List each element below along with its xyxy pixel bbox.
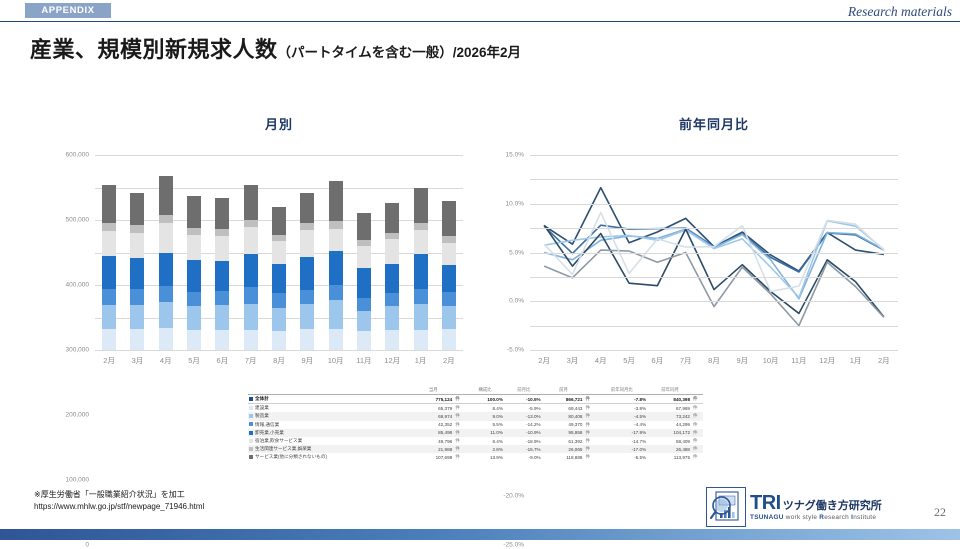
bar-segment [329,221,343,229]
table-cell-prev-month-unit: 件 [584,453,595,461]
col-prev-year-unit [692,386,703,395]
table-cell-prev-year-unit: 件 [692,404,703,413]
bar-segment [130,289,144,305]
bar-segment [102,223,116,231]
bar-x-tick-label: 10月 [328,355,344,366]
bar-segment [385,293,399,306]
logo-en-esearch: esearch [824,514,851,521]
table-cell-current-unit: 件 [454,404,465,413]
table-cell-label: 建設業 [248,404,412,413]
table-cell-label: 製造業 [248,412,412,420]
bar-y-tick-label: 100,000 [66,477,90,484]
bar-segment [215,229,229,236]
table-header-row: 当月 構成比 前月比 前月 前年同月比 前年同月 [248,386,703,395]
bar-segment [130,193,144,226]
table-cell-label: 宿泊業,飲食サービス業 [248,437,412,445]
table-cell-composition: 8.4% [465,404,505,413]
bar-segment [159,302,173,327]
bar-y-tick-label: 300,000 [66,347,90,354]
table-cell-current: 775,124 [412,395,454,404]
bar-x-tick-label: 8月 [273,355,285,366]
bar-segment [272,308,286,331]
page-title-sub: （パートタイムを含む一般）/2026年2月 [278,45,522,60]
table-cell-label: 全体計 [248,395,412,404]
bar-x-tick-label: 11月 [356,355,371,366]
bar-segment [300,193,314,223]
table-cell-current: 21,988 [412,445,454,453]
bar-segment [414,289,428,305]
bar-column [187,196,201,350]
line-x-tick-label: 8月 [708,355,720,366]
table-cell-prev-year-unit: 件 [692,412,703,420]
line-x-tick-label: 7月 [680,355,692,366]
source-note-text: ※厚生労働省「一般職業紹介状況」を加工 [34,489,204,501]
line-y-tick-label: 15.0% [506,152,524,159]
table-cell-prev-month: 866,721 [543,395,585,404]
bar-segment [159,223,173,253]
line-x-tick-label: 1月 [850,355,862,366]
slide-root: APPENDIX Research materials 産業、規模別新規求人数（… [0,0,960,540]
col-label [248,386,412,395]
bar-segment [357,311,371,331]
bar-x-tick-label: 3月 [132,355,144,366]
table-row: 卸売業,小売業85,498件11.0%-10.9%95,958件-17.9%10… [248,429,703,437]
table-cell-prev-year: 104,172 [648,429,692,437]
bar-x-tick-label: 9月 [301,355,313,366]
bar-segment [102,231,116,256]
bar-segment [357,331,371,350]
series-color-swatch [249,406,253,410]
bar-x-tick-label: 1月 [415,355,427,366]
table-cell-prev-month-unit: 件 [584,429,595,437]
table-cell-composition: 13.9% [465,453,505,461]
page-title: 産業、規模別新規求人数（パートタイムを含む一般）/2026年2月 [30,32,521,64]
bar-column [215,198,229,350]
bar-y-tick-label: 200,000 [66,412,90,419]
table-row: 情報,通信業42,352件5.5%-14.2%49,370件-4.4%44,29… [248,421,703,429]
header-divider [0,21,960,22]
line-gridline: 15.0% [530,155,898,156]
bar-column [159,176,173,350]
bar-segment [130,225,144,233]
bar-segment [244,330,258,350]
line-x-tick-label: 2月 [538,355,550,366]
bar-segment [329,229,343,251]
table-cell-prev-month-unit: 件 [584,412,595,420]
col-composition: 構成比 [465,386,505,395]
bar-segment [442,243,456,264]
table-cell-label: 情報,通信業 [248,421,412,429]
logo-en-tsunagu: TSUNAGU [750,514,784,521]
series-color-swatch [249,397,253,401]
table-cell-yoy: -17.0% [595,445,648,453]
line-y-tick-label: 10.0% [506,200,524,207]
table-cell-yoy: -5.5% [595,453,648,461]
line-x-tick-label: 9月 [736,355,748,366]
series-color-swatch [249,455,253,459]
bar-column [357,213,371,350]
table-cell-current: 65,379 [412,404,454,413]
col-mom: 前月比 [505,386,543,395]
line-y-tick-label: -25.0% [503,542,524,549]
bar-x-tick-label: 4月 [160,355,172,366]
source-url[interactable]: https://www.mhlw.go.jp/stf/newpage_71946… [34,501,204,513]
bar-segment [442,236,456,243]
table-cell-composition: 9.0% [465,412,505,420]
line-y-tick-label: -5.0% [507,347,524,354]
bar-segment [414,254,428,288]
table-row: 建設業65,379件8.4%-5.9%69,443件-3.8%67,969件 [248,404,703,413]
line-y-tick-label: 5.0% [509,249,524,256]
table-cell-current-unit: 件 [454,421,465,429]
bar-gridline: 500,000 [95,188,463,189]
table-cell-current-unit: 件 [454,412,465,420]
bar-segment [159,253,173,286]
logo-jp-name: ツナグ働き方研究所 [783,501,882,512]
bar-gridline: 600,000 [95,155,463,156]
bar-segment [300,304,314,329]
table-cell-yoy: -14.7% [595,437,648,445]
bar-segment [244,220,258,227]
logo-en-name: TSUNAGU work style Research Institute [750,515,882,521]
footer-accent-bar [0,529,960,540]
bar-segment [329,329,343,350]
table-cell-prev-month: 49,370 [543,421,585,429]
bar-segment [300,329,314,350]
bar-segment [244,227,258,254]
table-cell-mom: -13.0% [505,412,543,420]
line-x-tick-label: 11月 [791,355,806,366]
table-cell-prev-year-unit: 件 [692,429,703,437]
table-cell-mom: -10.5% [505,395,543,404]
bar-segment [102,256,116,289]
page-title-main: 産業、規模別新規求人数 [30,37,278,62]
col-yoy: 前年同月比 [595,386,648,395]
bar-segment [357,246,371,268]
table-cell-prev-year: 840,398 [648,395,692,404]
bar-column [442,201,456,350]
bar-x-tick-label: 5月 [188,355,200,366]
table-cell-yoy: -4.4% [595,421,648,429]
bar-segment [187,292,201,306]
table-cell-current: 49,796 [412,437,454,445]
logo-primary-row: TRI ツナグ働き方研究所 [750,493,882,513]
table-cell-yoy: -7.8% [595,395,648,404]
bar-segment [414,223,428,230]
line-series [544,225,884,317]
bar-segment [244,185,258,220]
bar-column [244,185,258,350]
table-cell-current-unit: 件 [454,453,465,461]
bar-chart-title: 月別 [95,114,463,133]
bar-segment [385,264,399,293]
col-prev-month: 前月 [543,386,585,395]
table-cell-prev-month: 69,443 [543,404,585,413]
table-cell-current-unit: 件 [454,395,465,404]
bar-segment [414,230,428,254]
line-x-tick-label: 2月 [878,355,890,366]
line-x-tick-label: 10月 [763,355,779,366]
bar-segment [442,265,456,293]
bar-segment [187,306,201,330]
table-cell-prev-month: 80,408 [543,412,585,420]
table-row: 生活関連サービス業,娯楽業21,988件2.8%-15.7%26,065件-17… [248,445,703,453]
bar-segment [300,230,314,257]
bar-segment [272,293,286,308]
bar-segment [272,264,286,294]
table-cell-composition: 5.5% [465,421,505,429]
bar-segment [215,198,229,229]
table-cell-yoy: -4.5% [595,412,648,420]
table-cell-current: 85,498 [412,429,454,437]
table-row: 宿泊業,飲食サービス業49,796件6.4%-18.9%61,392件-14.7… [248,437,703,445]
table-cell-prev-year: 26,488 [648,445,692,453]
bar-segment [102,289,116,305]
line-gridline: 5.0% [530,204,898,205]
bar-segment [244,287,258,304]
line-series [544,188,884,271]
bar-segment [130,258,144,289]
bar-segment [357,268,371,298]
series-color-swatch [249,439,253,443]
bar-segment [102,305,116,329]
bar-segment [187,260,201,292]
series-color-swatch [249,431,253,435]
table-cell-prev-month-unit: 件 [584,437,595,445]
bar-y-tick-label: 500,000 [66,217,90,224]
bar-segment [130,305,144,329]
bar-segment [159,328,173,350]
source-note: ※厚生労働省「一般職業紹介状況」を加工 https://www.mhlw.go.… [34,489,204,512]
table-cell-label: 卸売業,小売業 [248,429,412,437]
table-row: 全体計775,124件100.0%-10.5%866,721件-7.8%840,… [248,395,703,404]
table-cell-yoy: -3.8% [595,404,648,413]
table-cell-mom: -5.9% [505,404,543,413]
bar-column [414,188,428,350]
bar-segment [385,203,399,233]
bar-x-tick-label: 12月 [384,355,400,366]
bar-segment [300,257,314,290]
table-cell-composition: 6.4% [465,437,505,445]
line-gridline: -15.0% [530,301,898,302]
bar-segment [329,285,343,300]
bar-segment [357,213,371,240]
table-row: サービス業(他に分類されないもの)107,698件13.9%-9.0%118,8… [248,453,703,461]
table-cell-current: 107,698 [412,453,454,461]
table-cell-current-unit: 件 [454,437,465,445]
bar-column [130,193,144,350]
bar-x-tick-label: 6月 [217,355,229,366]
bar-segment [385,330,399,350]
table-cell-prev-year: 67,969 [648,404,692,413]
table-cell-prev-year-unit: 件 [692,453,703,461]
table-cell-mom: -9.0% [505,453,543,461]
table-cell-composition: 100.0% [465,395,505,404]
bar-column [300,193,314,350]
table-head: 当月 構成比 前月比 前月 前年同月比 前年同月 [248,386,703,395]
tri-logo: TRI ツナグ働き方研究所 TSUNAGU work style Researc… [706,487,882,527]
table-cell-current: 69,974 [412,412,454,420]
bar-y-tick-label: 0 [85,542,89,549]
bar-gridline: 0 [95,350,463,351]
bar-segment [159,176,173,215]
bar-segment [357,298,371,311]
table-cell-prev-year: 58,409 [648,437,692,445]
bar-segment [300,223,314,230]
bar-segment [130,233,144,258]
bar-segment [215,236,229,261]
industry-data-table: 当月 構成比 前月比 前月 前年同月比 前年同月 全体計775,124件100.… [248,386,703,462]
appendix-badge: APPENDIX [25,3,111,18]
table-cell-prev-month: 61,392 [543,437,585,445]
bar-x-tick-label: 7月 [245,355,257,366]
bar-column [385,203,399,350]
bar-segment [442,306,456,329]
bar-y-tick-label: 600,000 [66,152,90,159]
table-cell-mom: -14.2% [505,421,543,429]
table-cell-yoy: -17.9% [595,429,648,437]
line-x-tick-label: 6月 [652,355,664,366]
logo-abbr: TRI [750,493,781,513]
line-gridline: -10.0% [530,277,898,278]
bar-segment [215,261,229,291]
table-cell-prev-month: 118,888 [543,453,585,461]
bar-segment [300,290,314,304]
table-cell-prev-year-unit: 件 [692,437,703,445]
bar-segment [442,201,456,236]
line-x-tick-label: 5月 [623,355,635,366]
table-body: 全体計775,124件100.0%-10.5%866,721件-7.8%840,… [248,395,703,462]
table-cell-prev-year-unit: 件 [692,421,703,429]
table-cell-composition: 2.8% [465,445,505,453]
bar-segment [414,330,428,350]
bar-segment [414,304,428,329]
bar-segment [130,329,144,350]
bar-segment [244,304,258,329]
line-gridline: 0.0% [530,228,898,229]
table-cell-prev-year-unit: 件 [692,395,703,404]
bar-segment [329,251,343,285]
bar-segment [272,241,286,263]
logo-en-nstitute: nstitute [853,514,876,521]
line-gridline: 10.0% [530,179,898,180]
col-current-unit [454,386,465,395]
bar-segment [187,228,201,235]
logo-mark-icon [706,487,746,527]
bar-segment [329,300,343,328]
col-prev-month-unit [584,386,595,395]
line-chart-title: 前年同月比 [530,114,898,133]
bar-column [102,185,116,350]
logo-en-workstyle: work style [784,514,820,521]
bar-column [329,181,343,350]
bar-segment [329,181,343,221]
table-cell-prev-month-unit: 件 [584,445,595,453]
table-cell-prev-month-unit: 件 [584,395,595,404]
line-x-tick-label: 12月 [819,355,835,366]
series-color-swatch [249,422,253,426]
bar-segment [385,306,399,329]
document-chart-magnifier-icon [707,488,745,526]
bar-segment [272,207,286,236]
line-x-tick-label: 3月 [567,355,579,366]
table-cell-mom: -15.7% [505,445,543,453]
table-cell-current-unit: 件 [454,429,465,437]
bar-segment [215,291,229,305]
bar-segment [215,330,229,350]
table-cell-prev-year: 113,975 [648,453,692,461]
bar-segment [102,185,116,223]
line-x-tick-label: 4月 [595,355,607,366]
table-row: 製造業69,974件9.0%-13.0%80,408件-4.5%73,242件 [248,412,703,420]
bar-segment [187,330,201,350]
bar-segment [187,196,201,228]
table-cell-prev-year: 73,242 [648,412,692,420]
table-cell-prev-month: 95,958 [543,429,585,437]
bar-segment [159,286,173,303]
table-cell-prev-year-unit: 件 [692,445,703,453]
bar-segment [272,331,286,350]
logo-text: TRI ツナグ働き方研究所 TSUNAGU work style Researc… [750,493,882,521]
col-current: 当月 [412,386,454,395]
bar-y-tick-label: 400,000 [66,282,90,289]
series-color-swatch [249,447,253,451]
table-cell-current-unit: 件 [454,445,465,453]
bar-segment [159,215,173,223]
research-materials-label: Research materials [848,4,952,20]
col-prev-year: 前年同月 [648,386,692,395]
line-gridline: -20.0% [530,326,898,327]
table-cell-prev-month-unit: 件 [584,421,595,429]
bar-x-tick-label: 2月 [103,355,115,366]
series-color-swatch [249,414,253,418]
bar-chart-plot: 0100,000200,000300,000400,000500,000600,… [95,155,463,350]
table-cell-composition: 11.0% [465,429,505,437]
line-gridline: -25.0% [530,350,898,351]
bar-x-tick-label: 2月 [443,355,455,366]
table-cell-label: サービス業(他に分類されないもの) [248,453,412,461]
bar-segment [442,329,456,350]
line-y-tick-label: 0.0% [509,298,524,305]
page-number: 22 [934,505,946,520]
line-chart-plot: -25.0%-20.0%-15.0%-10.0%-5.0%0.0%5.0%10.… [530,155,898,350]
bar-segment [244,254,258,288]
table-cell-mom: -10.9% [505,429,543,437]
table-cell-label: 生活関連サービス業,娯楽業 [248,445,412,453]
table-cell-mom: -18.9% [505,437,543,445]
table-cell-current: 42,352 [412,421,454,429]
table-cell-prev-year: 44,299 [648,421,692,429]
table-cell-prev-month: 26,065 [543,445,585,453]
bar-column [272,207,286,350]
bar-segment [187,235,201,260]
line-y-tick-label: -20.0% [503,493,524,500]
table-cell-prev-month-unit: 件 [584,404,595,413]
bar-segment [385,239,399,264]
bar-segment [442,292,456,306]
bar-segment [414,188,428,223]
line-gridline: -5.0% [530,253,898,254]
bar-segment [215,305,229,330]
bar-segment [102,329,116,350]
